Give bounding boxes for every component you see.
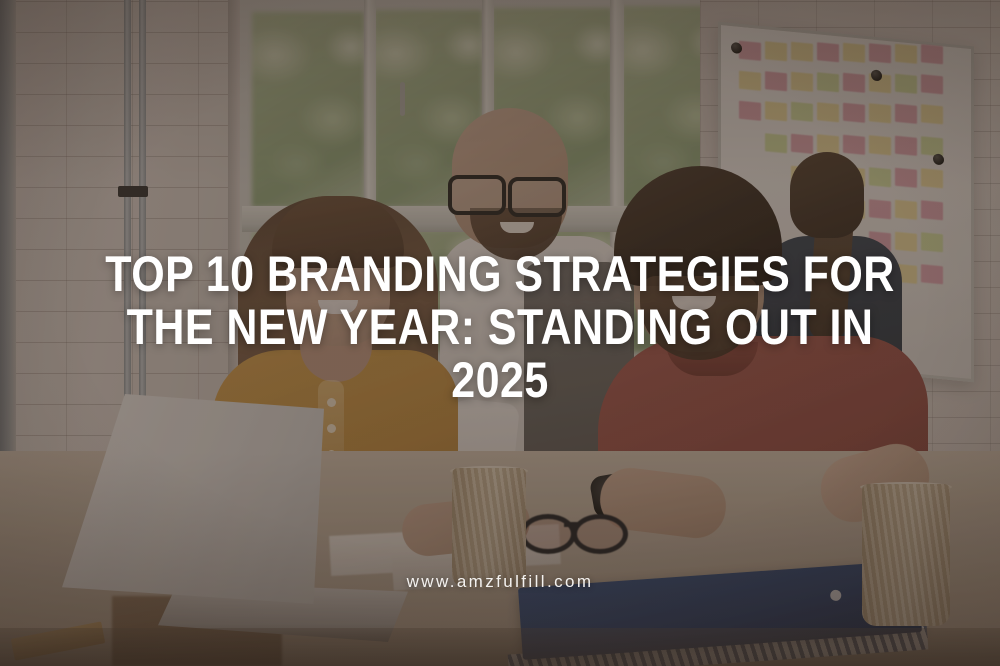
- text-layer: Top 10 Branding Strategies for the New Y…: [0, 0, 1000, 666]
- page-title: Top 10 Branding Strategies for the New Y…: [70, 248, 930, 407]
- blog-banner: Top 10 Branding Strategies for the New Y…: [0, 0, 1000, 666]
- site-url-label: www.amzfulfill.com: [0, 572, 1000, 592]
